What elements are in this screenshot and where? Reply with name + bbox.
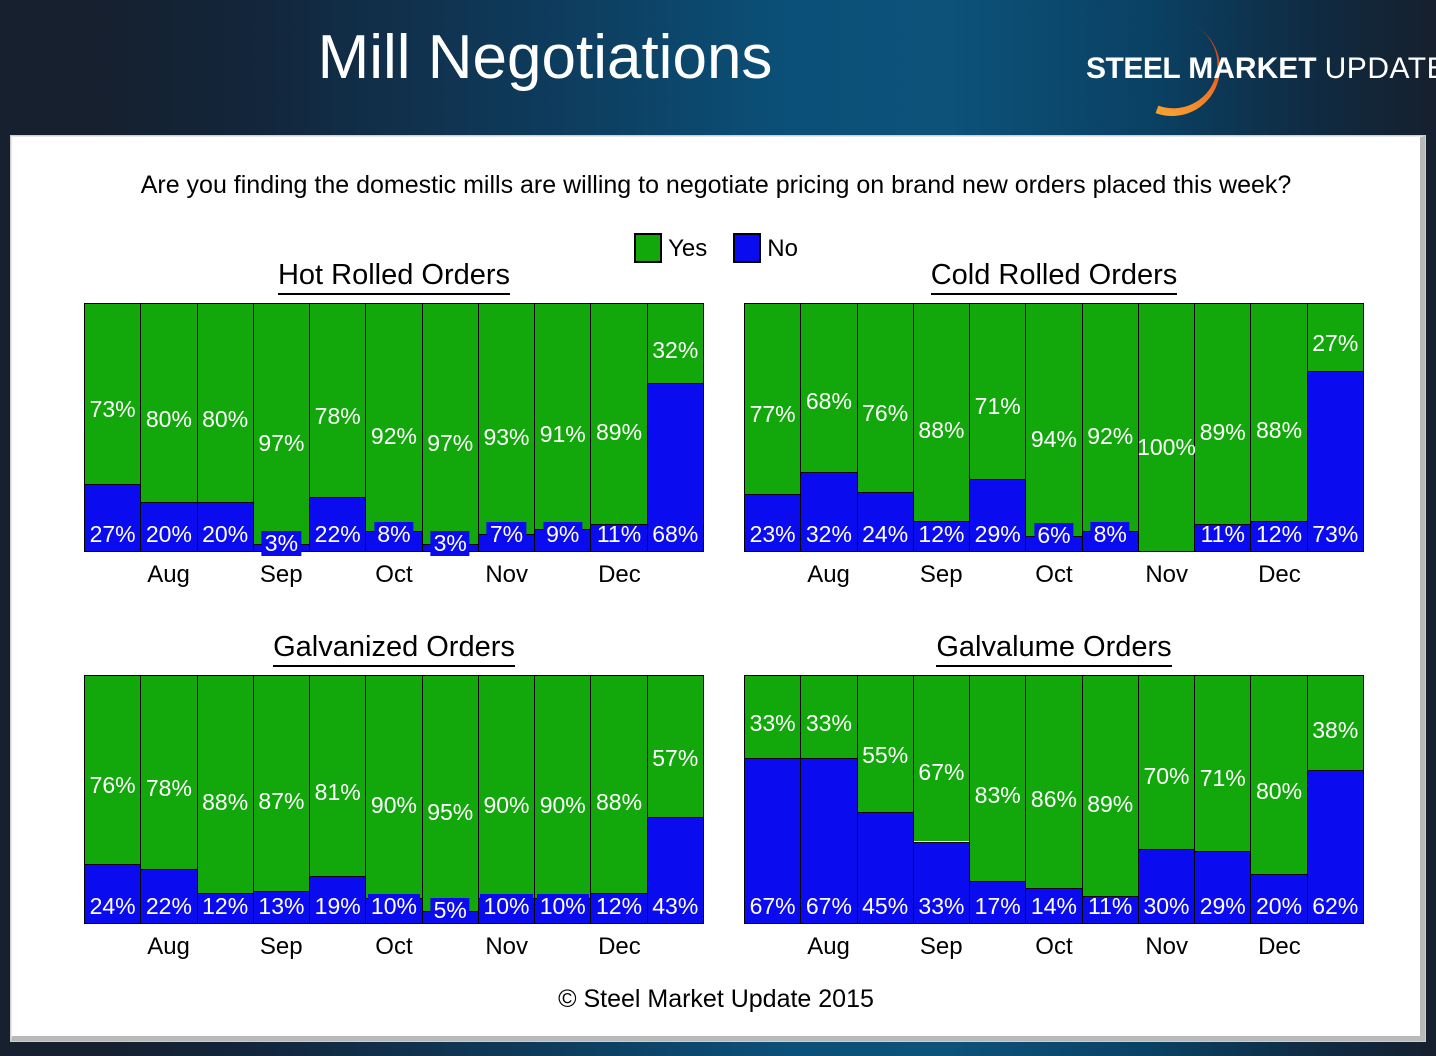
bar-segment-no: 33% [914,842,969,924]
stacked-bar: 89%11% [591,304,647,551]
steel-market-update-logo: STEEL MARKET UPDATE [1086,12,1430,124]
bar-segment-no: 67% [745,758,800,923]
bar-segment-no: 73% [1308,371,1363,551]
x-axis-tick-blank [422,561,478,589]
bar-value-label-no: 11% [597,522,641,547]
bar-segment-yes: 80% [1251,676,1306,874]
stacked-bar: 76%24% [85,676,141,923]
stacked-bar: 70%30% [1139,676,1195,923]
bar-value-label-yes: 100% [1137,435,1196,460]
bar-segment-no: 3% [423,544,478,551]
bar-segment-no: 24% [85,864,140,923]
bar-value-label-no: 20% [146,522,192,547]
bar-value-label-yes: 91% [540,422,586,447]
x-axis-tick-blank [535,933,591,961]
bar-value-label-yes: 95% [427,800,473,825]
plot-area-hot-rolled: 73%27%80%20%80%20%97%3%78%22%92%8%97%3%9… [84,303,704,552]
stacked-bar: 38%62% [1308,676,1363,923]
bar-segment-yes: 33% [801,676,856,758]
x-axis-tick-oct: Oct [1026,933,1082,961]
bar-value-label-yes: 92% [1087,424,1133,449]
bar-value-label-yes: 90% [540,793,586,818]
bar-segment-yes: 67% [914,676,969,841]
x-axis-tick-blank [969,561,1025,589]
stacked-bar: 78%22% [141,676,197,923]
stacked-bar: 81%19% [310,676,366,923]
bar-segment-no: 14% [1026,888,1081,923]
x-axis-tick-blank [648,561,704,589]
bar-value-label-no: 67% [806,894,852,919]
bar-segment-yes: 92% [1083,304,1138,531]
bar-segment-no: 8% [366,531,421,551]
bar-segment-no: 29% [970,479,1025,551]
bar-value-label-no: 32% [806,522,852,547]
stacked-bar: 89%11% [1083,676,1139,923]
bar-value-label-no: 6% [1034,523,1073,548]
bar-segment-yes: 86% [1026,676,1081,888]
bar-segment-yes: 94% [1026,304,1081,536]
bar-value-label-yes: 86% [1031,787,1077,812]
x-axis-tick-blank [197,933,253,961]
bar-segment-yes: 97% [254,304,309,544]
stacked-bar: 86%14% [1026,676,1082,923]
bar-value-label-no: 67% [750,894,796,919]
bar-segment-no: 32% [801,472,856,551]
stacked-bar: 100% [1139,304,1195,551]
bar-value-label-no: 23% [750,522,796,547]
bar-segment-yes: 57% [648,676,703,817]
bar-segment-yes: 68% [801,304,856,472]
x-axis-tick-dec: Dec [1251,561,1307,589]
bar-segment-no: 6% [1026,536,1081,551]
x-axis-cold-rolled: AugSepOctNovDec [744,561,1364,589]
x-axis-tick-dec: Dec [591,933,647,961]
bar-segment-yes: 83% [970,676,1025,881]
bar-segment-yes: 88% [198,676,253,893]
stacked-bar: 80%20% [198,304,254,551]
chart-title-cold-rolled: Cold Rolled Orders [744,259,1364,292]
bar-segment-no: 43% [648,817,703,923]
bar-segment-no: 19% [310,876,365,923]
bar-segment-yes: 77% [745,304,800,494]
bar-value-label-yes: 87% [258,789,304,814]
x-axis-tick-blank [84,561,140,589]
bar-value-label-yes: 88% [596,790,642,815]
x-axis-tick-sep: Sep [253,933,309,961]
bar-segment-yes: 93% [479,304,534,534]
x-axis-tick-aug: Aug [800,561,856,589]
stacked-bar: 88%12% [914,304,970,551]
bar-segment-yes: 88% [591,676,646,893]
x-axis-tick-blank [309,561,365,589]
x-axis-tick-blank [1195,933,1251,961]
bar-segment-no: 8% [1083,531,1138,551]
bar-value-label-yes: 76% [90,773,136,798]
bar-value-label-yes: 77% [750,402,796,427]
stacked-bar: 93%7% [479,304,535,551]
bar-segment-no: 29% [1195,851,1250,923]
survey-question: Are you finding the domestic mills are w… [12,171,1420,200]
bar-value-label-yes: 57% [652,746,698,771]
bar-segment-yes: 38% [1308,676,1363,770]
stacked-bar: 71%29% [1195,676,1251,923]
bar-value-label-no: 29% [975,522,1021,547]
bar-value-label-yes: 81% [315,780,361,805]
bar-segment-no: 67% [801,758,856,923]
bar-segment-no: 11% [1083,896,1138,923]
bar-segment-no: 12% [1251,521,1306,551]
bar-value-label-no: 3% [262,531,301,556]
bar-value-label-no: 20% [202,522,248,547]
bar-value-label-yes: 78% [315,404,361,429]
bar-value-label-no: 12% [202,894,248,919]
bar-value-label-no: 7% [487,522,526,547]
bar-value-label-no: 24% [90,894,136,919]
plot-area-cold-rolled: 77%23%68%32%76%24%88%12%71%29%94%6%92%8%… [744,303,1364,552]
bar-segment-no: 3% [254,544,309,551]
x-axis-tick-dec: Dec [591,561,647,589]
x-axis-tick-blank [1308,561,1364,589]
bar-value-label-no: 8% [1091,522,1130,547]
x-axis-galvalume: AugSepOctNovDec [744,933,1364,961]
bar-segment-yes: 90% [535,676,590,898]
bar-value-label-no: 12% [918,522,964,547]
bar-value-label-yes: 71% [975,394,1021,419]
bar-value-label-no: 5% [431,898,470,923]
stacked-bar: 68%32% [801,304,857,551]
stacked-bar: 76%24% [858,304,914,551]
copyright-notice: © Steel Market Update 2015 [12,985,1420,1014]
bar-segment-yes: 27% [1308,304,1363,371]
x-axis-tick-aug: Aug [140,933,196,961]
bar-segment-yes: 91% [535,304,590,529]
bar-value-label-yes: 90% [371,793,417,818]
stacked-bar: 78%22% [310,304,366,551]
x-axis-tick-blank [857,933,913,961]
stacked-bar: 33%67% [745,676,801,923]
stacked-bar: 88%12% [1251,304,1307,551]
chart-title-galvalume: Galvalume Orders [744,631,1364,664]
bar-segment-no: 17% [970,881,1025,923]
bar-segment-yes: 71% [970,304,1025,479]
x-axis-tick-blank [1082,561,1138,589]
bar-segment-no: 13% [254,891,309,923]
bar-segment-yes: 32% [648,304,703,383]
bar-value-label-no: 10% [480,894,532,919]
bar-value-label-yes: 78% [146,776,192,801]
bar-segment-yes: 97% [423,304,478,544]
logo-word-market: MARKET [1188,52,1316,85]
bar-segment-no: 30% [1139,849,1194,923]
bar-value-label-no: 11% [1201,522,1245,547]
bar-segment-yes: 88% [1251,304,1306,521]
chart-title-galvanized: Galvanized Orders [84,631,704,664]
bar-value-label-yes: 93% [483,425,529,450]
plot-area-galvanized: 76%24%78%22%88%12%87%13%81%19%90%10%95%5… [84,675,704,924]
bar-segment-no: 45% [858,812,913,923]
stacked-bar: 33%67% [801,676,857,923]
x-axis-hot-rolled: AugSepOctNovDec [84,561,704,589]
stacked-bar: 80%20% [141,304,197,551]
bar-value-label-yes: 97% [427,431,473,456]
bar-value-label-yes: 80% [1256,779,1302,804]
bar-segment-no: 11% [591,524,646,551]
stacked-bar: 73%27% [85,304,141,551]
bar-value-label-no: 22% [146,894,192,919]
logo-word-update: UPDATE [1325,52,1436,85]
bar-segment-no: 27% [85,484,140,551]
x-axis-tick-nov: Nov [1139,561,1195,589]
bar-value-label-yes: 80% [202,407,248,432]
bar-value-label-no: 20% [1256,894,1302,919]
bar-segment-no: 10% [535,898,590,923]
x-axis-tick-blank [1308,933,1364,961]
x-axis-tick-aug: Aug [140,561,196,589]
logo-wordmark: STEEL MARKET UPDATE [1086,54,1430,84]
plot-area-galvalume: 33%67%33%67%55%45%67%33%83%17%86%14%89%1… [744,675,1364,924]
bar-segment-yes: 33% [745,676,800,758]
chart-cold-rolled-orders: Cold Rolled Orders 77%23%68%32%76%24%88%… [744,259,1364,559]
bar-value-label-no: 73% [1312,522,1358,547]
chart-galvalume-orders: Galvalume Orders 33%67%33%67%55%45%67%33… [744,631,1364,931]
bar-segment-yes: 78% [141,676,196,869]
bar-segment-yes: 87% [254,676,309,891]
bar-segment-yes: 55% [858,676,913,812]
x-axis-tick-blank [648,933,704,961]
bar-value-label-yes: 97% [258,431,304,456]
bar-value-label-no: 24% [862,522,908,547]
bar-value-label-yes: 92% [371,424,417,449]
bar-segment-yes: 90% [366,676,421,898]
x-axis-tick-oct: Oct [366,561,422,589]
bar-value-label-no: 10% [537,894,589,919]
bar-value-label-yes: 88% [918,418,964,443]
content-panel: Are you finding the domestic mills are w… [11,136,1425,1041]
bar-value-label-no: 33% [918,894,964,919]
bar-value-label-yes: 55% [862,743,908,768]
bar-segment-yes: 78% [310,304,365,497]
x-axis-tick-blank [1082,933,1138,961]
bar-value-label-no: 17% [975,894,1021,919]
x-axis-tick-blank [422,933,478,961]
page-title: Mill Negotiations [0,16,1090,100]
bar-value-label-no: 12% [596,894,642,919]
bar-value-label-yes: 68% [806,389,852,414]
bar-segment-no: 12% [914,521,969,551]
bar-segment-no: 20% [198,502,253,551]
bar-value-label-yes: 89% [1200,420,1246,445]
bar-segment-no: 20% [1251,874,1306,923]
bar-value-label-yes: 80% [146,407,192,432]
bar-value-label-no: 22% [315,522,361,547]
x-axis-tick-blank [1195,561,1251,589]
bar-value-label-no: 10% [368,894,420,919]
bar-segment-yes: 76% [85,676,140,864]
chart-galvanized-orders: Galvanized Orders 76%24%78%22%88%12%87%1… [84,631,704,931]
stacked-bar: 77%23% [745,304,801,551]
bar-segment-no: 11% [1195,524,1250,551]
stacked-bar: 32%68% [648,304,703,551]
x-axis-tick-sep: Sep [913,933,969,961]
bar-value-label-no: 29% [1200,894,1246,919]
stacked-bar: 90%10% [479,676,535,923]
x-axis-tick-sep: Sep [913,561,969,589]
x-axis-tick-blank [744,561,800,589]
bar-value-label-yes: 67% [918,760,964,785]
x-axis-tick-blank [309,933,365,961]
stacked-bar: 67%33% [914,676,970,923]
bar-value-label-no: 30% [1143,894,1189,919]
stacked-bar: 71%29% [970,304,1026,551]
x-axis-tick-blank [744,933,800,961]
stacked-bar: 89%11% [1195,304,1251,551]
bar-segment-no: 22% [141,869,196,923]
bar-value-label-yes: 33% [750,711,796,736]
bar-value-label-yes: 88% [202,790,248,815]
stacked-bar: 80%20% [1251,676,1307,923]
bar-value-label-yes: 89% [1087,792,1133,817]
bar-segment-no: 20% [141,502,196,551]
bar-segment-no: 68% [648,383,703,551]
bar-segment-no: 22% [310,497,365,551]
bar-segment-yes: 73% [85,304,140,484]
bar-value-label-yes: 90% [483,793,529,818]
bar-value-label-no: 45% [862,894,908,919]
bar-segment-yes: 76% [858,304,913,492]
stacked-bar: 83%17% [970,676,1026,923]
bar-value-label-no: 3% [431,531,470,556]
x-axis-tick-sep: Sep [253,561,309,589]
bar-segment-yes: 70% [1139,676,1194,849]
bar-value-label-yes: 76% [862,401,908,426]
bar-value-label-yes: 83% [975,783,1021,808]
bar-segment-yes: 71% [1195,676,1250,851]
bar-segment-yes: 100% [1139,304,1194,551]
bar-segment-no: 7% [479,534,534,551]
bar-value-label-yes: 32% [652,338,698,363]
x-axis-tick-dec: Dec [1251,933,1307,961]
stacked-bar: 90%10% [535,676,591,923]
bar-segment-yes: 89% [1195,304,1250,524]
bar-value-label-no: 19% [315,894,361,919]
stacked-bar: 92%8% [366,304,422,551]
bar-segment-no: 5% [423,911,478,923]
bar-segment-yes: 80% [198,304,253,502]
bar-segment-yes: 80% [141,304,196,502]
x-axis-tick-aug: Aug [800,933,856,961]
x-axis-galvanized: AugSepOctNovDec [84,933,704,961]
x-axis-tick-blank [857,561,913,589]
bar-segment-no: 9% [535,529,590,551]
bar-segment-yes: 88% [914,304,969,521]
x-axis-tick-oct: Oct [1026,561,1082,589]
bar-value-label-yes: 88% [1256,418,1302,443]
stacked-bar: 95%5% [423,676,479,923]
bar-value-label-no: 11% [1088,894,1132,919]
stacked-bar: 91%9% [535,304,591,551]
bar-value-label-no: 13% [258,894,304,919]
logo-word-steel: STEEL [1086,52,1180,85]
x-axis-tick-blank [535,561,591,589]
bar-value-label-yes: 71% [1200,766,1246,791]
bar-value-label-yes: 27% [1312,331,1358,356]
bar-segment-yes: 92% [366,304,421,531]
bar-value-label-no: 27% [90,522,136,547]
bar-value-label-yes: 38% [1312,718,1358,743]
bar-value-label-yes: 33% [806,711,852,736]
x-axis-tick-nov: Nov [479,933,535,961]
slide-header: Mill Negotiations STEEL MARKET UPDATE [0,0,1436,136]
x-axis-tick-blank [197,561,253,589]
bar-segment-no: 12% [198,893,253,923]
bar-segment-yes: 81% [310,676,365,876]
stacked-bar: 27%73% [1308,304,1363,551]
bar-value-label-no: 14% [1031,894,1077,919]
bar-value-label-no: 9% [543,522,582,547]
stacked-bar: 92%8% [1083,304,1139,551]
x-axis-tick-oct: Oct [366,933,422,961]
stacked-bar: 88%12% [198,676,254,923]
stacked-bar: 97%3% [423,304,479,551]
x-axis-tick-blank [84,933,140,961]
stacked-bar: 87%13% [254,676,310,923]
bar-value-label-yes: 89% [596,420,642,445]
bar-segment-no: 23% [745,494,800,551]
chart-hot-rolled-orders: Hot Rolled Orders 73%27%80%20%80%20%97%3… [84,259,704,559]
bar-value-label-no: 68% [652,522,698,547]
x-axis-tick-nov: Nov [479,561,535,589]
bar-segment-yes: 90% [479,676,534,898]
x-axis-tick-nov: Nov [1139,933,1195,961]
bar-segment-yes: 95% [423,676,478,911]
bar-value-label-no: 8% [374,522,413,547]
bar-value-label-yes: 73% [90,397,136,422]
bar-value-label-no: 62% [1312,894,1358,919]
bar-segment-no: 62% [1308,770,1363,923]
bar-segment-yes: 89% [591,304,646,524]
bar-segment-no: 24% [858,492,913,551]
bar-segment-no: 10% [479,898,534,923]
stacked-bar: 90%10% [366,676,422,923]
bar-segment-no: 10% [366,898,421,923]
stacked-bar: 55%45% [858,676,914,923]
stacked-bar: 57%43% [648,676,703,923]
bar-segment-no: 12% [591,893,646,923]
bar-value-label-yes: 94% [1031,427,1077,452]
stacked-bar: 88%12% [591,676,647,923]
bar-segment-yes: 89% [1083,676,1138,896]
chart-title-hot-rolled: Hot Rolled Orders [84,259,704,292]
bar-value-label-no: 43% [652,894,698,919]
x-axis-tick-blank [969,933,1025,961]
bar-value-label-no: 12% [1256,522,1302,547]
bar-value-label-yes: 70% [1143,764,1189,789]
stacked-bar: 97%3% [254,304,310,551]
stacked-bar: 94%6% [1026,304,1082,551]
